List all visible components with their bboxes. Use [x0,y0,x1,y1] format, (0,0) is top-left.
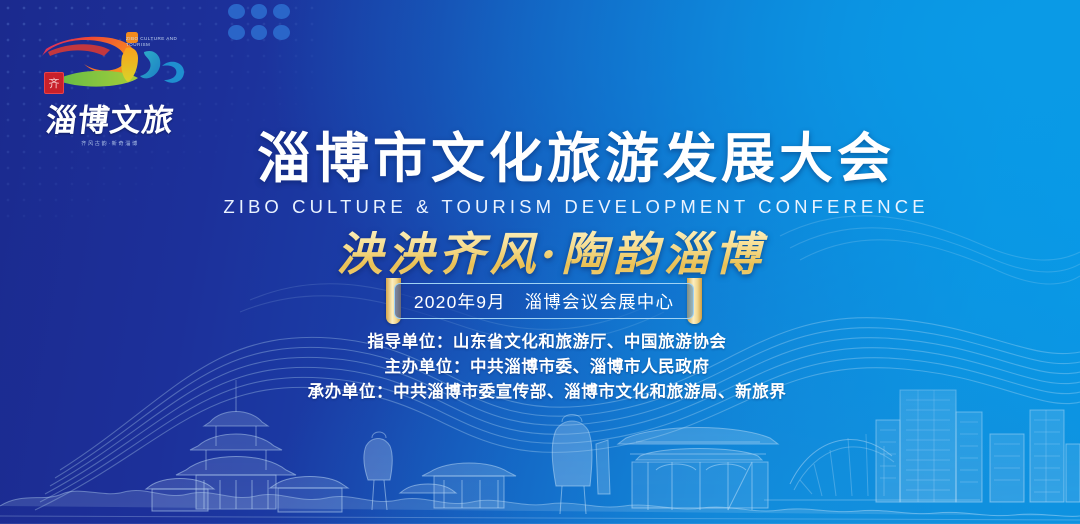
conference-slogan: 泱泱齐风·陶韵淄博 [0,225,1080,283]
event-info-ribbon: 2020年9月 淄博会议会展中心 [386,283,702,319]
modern-skyline-group [764,390,1080,502]
treeline-band [0,490,1080,524]
logo-latin-tag: ZIBO CULTURE AND TOURISM [126,36,184,48]
organiser-list: 指导单位：山东省文化和旅游厅、中国旅游协会 主办单位：中共淄博市委、淄博市人民政… [0,330,1080,405]
conference-title-en: ZIBO CULTURE & TOURISM DEVELOPMENT CONFE… [0,196,1080,218]
conference-title-cn: 淄博市文化旅游发展大会 [0,128,1080,190]
organiser-row-guidance: 指导单位：山东省文化和旅游厅、中国旅游协会 [14,330,1080,355]
seal-stamp-icon: 齐 [44,72,64,94]
organiser-row-host: 主办单位：中共淄博市委、淄博市人民政府 [14,355,1080,380]
event-date-venue: 2020年9月 淄博会议会展中心 [394,283,694,319]
organiser-row-undertaker: 承办单位：中共淄博市委宣传部、淄博市文化和旅游局、新旅界 [14,380,1080,405]
dot-grid-accent [228,4,290,40]
conference-banner: 齐 ZIBO CULTURE AND TOURISM 淄博文旅 齐风古韵·新奇淄… [0,0,1080,524]
